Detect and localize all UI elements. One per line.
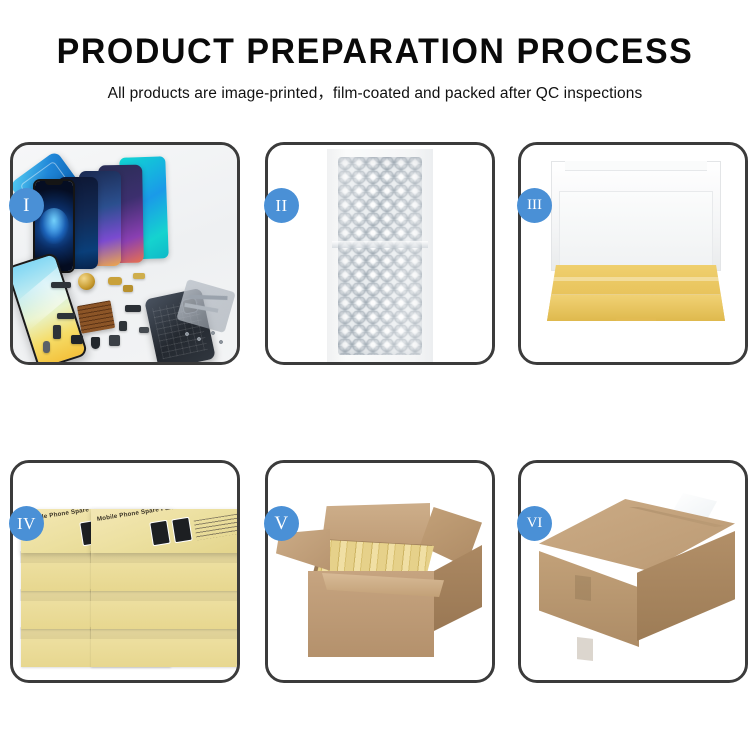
step-panel-2[interactable] <box>265 142 495 365</box>
tray-front-face <box>547 294 725 321</box>
tray-tab <box>616 318 656 325</box>
page-subtitle: All products are image-printed，film-coat… <box>0 71 750 103</box>
step-image-1 <box>13 145 237 362</box>
step-badge-5: V <box>264 506 299 541</box>
screws-icon <box>183 330 227 348</box>
retail-box <box>91 551 237 591</box>
box-product-photo <box>171 517 193 544</box>
bubble-wrap-icon <box>338 157 422 355</box>
step-panel-1[interactable] <box>10 142 240 365</box>
box-spec-text <box>194 514 237 541</box>
phone-notch <box>45 181 63 185</box>
step-image-3 <box>521 145 745 362</box>
vibration-motor-icon <box>78 273 95 290</box>
step-image-6 <box>521 463 745 680</box>
phones-and-parts-illustration <box>13 145 237 362</box>
spare-part <box>51 282 71 288</box>
open-carton-illustration <box>268 463 492 680</box>
step-badge-3: III <box>517 188 552 223</box>
carton-edge-tab <box>577 637 593 661</box>
inner-box-illustration <box>521 145 745 362</box>
step-panel-5[interactable] <box>265 460 495 683</box>
step-badge-2: II <box>264 188 299 223</box>
spare-part <box>91 337 100 349</box>
spare-part <box>57 313 75 319</box>
header: PRODUCT PREPARATION PROCESS All products… <box>0 0 750 103</box>
retail-box-top: Mobile Phone Spare Parts <box>91 509 237 553</box>
spare-part <box>71 335 83 344</box>
bubble-wrap-illustration <box>268 145 492 362</box>
stacked-boxes-illustration: Mobile Phone Spare Parts Mobile Phone Sp… <box>13 463 237 680</box>
bag-seam <box>332 241 428 248</box>
step-badge-4: IV <box>9 506 44 541</box>
step-image-2 <box>268 145 492 362</box>
retail-box <box>91 627 237 667</box>
spare-part <box>119 321 127 331</box>
wallpaper-shape <box>39 208 69 244</box>
step-image-5 <box>268 463 492 680</box>
spare-part <box>125 305 141 312</box>
sealed-carton-illustration <box>521 463 745 680</box>
foam-liner <box>559 191 713 267</box>
spare-part <box>133 273 145 279</box>
step-panel-3[interactable] <box>518 142 748 365</box>
spare-part <box>53 325 61 339</box>
spare-part <box>109 335 120 346</box>
spare-part <box>123 285 133 292</box>
step-panel-6[interactable] <box>518 460 748 683</box>
step-panel-4[interactable]: Mobile Phone Spare Parts Mobile Phone Sp… <box>10 460 240 683</box>
logic-board-icon <box>77 300 115 333</box>
step-badge-6: VI <box>517 506 552 541</box>
spare-part <box>43 341 50 353</box>
spare-part <box>139 327 149 333</box>
step-image-4: Mobile Phone Spare Parts Mobile Phone Sp… <box>13 463 237 680</box>
retail-box <box>91 589 237 629</box>
page-title: PRODUCT PREPARATION PROCESS <box>11 0 739 71</box>
product-preparation-infographic: PRODUCT PREPARATION PROCESS All products… <box>0 0 750 750</box>
kraft-tray <box>547 265 725 321</box>
spare-part <box>108 277 122 285</box>
tray-ledge <box>547 277 725 281</box>
step-badge-1: I <box>9 188 44 223</box>
box-product-photo <box>149 520 171 547</box>
carton-edge-tab <box>575 575 591 601</box>
